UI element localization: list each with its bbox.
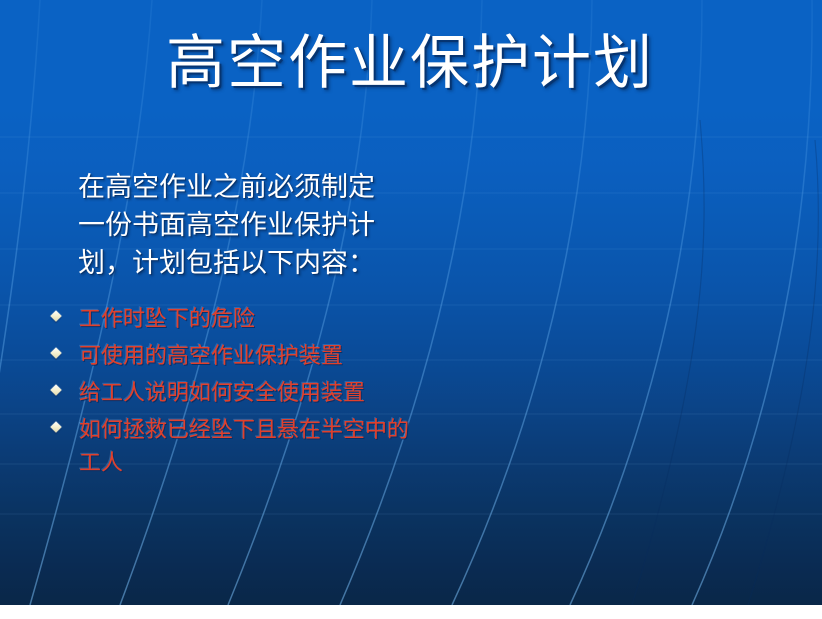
presentation-slide-root: 高空作业保护计划 在高空作业之前必须制定一份书面高空作业保护计划，计划包括以下内… xyxy=(0,0,822,619)
slide-canvas: 高空作业保护计划 在高空作业之前必须制定一份书面高空作业保护计划，计划包括以下内… xyxy=(0,0,822,605)
list-item: 给工人说明如何安全使用装置 xyxy=(50,377,410,410)
diamond-bullet-icon xyxy=(50,421,61,432)
intro-paragraph: 在高空作业之前必须制定一份书面高空作业保护计划，计划包括以下内容： xyxy=(78,169,398,283)
diamond-bullet-icon xyxy=(50,384,61,395)
page-title: 高空作业保护计划 xyxy=(166,26,654,100)
list-item-label: 如何拯救已经坠下且悬在半空中的工人 xyxy=(79,414,410,480)
meridian-shadow-lines xyxy=(632,120,818,605)
list-item: 可使用的高空作业保护装置 xyxy=(50,340,410,373)
diamond-bullet-icon xyxy=(50,347,61,358)
list-item-label: 给工人说明如何安全使用装置 xyxy=(79,377,410,410)
list-item: 工作时坠下的危险 xyxy=(50,303,410,336)
bullet-list: 工作时坠下的危险 可使用的高空作业保护装置 给工人说明如何安全使用装置 如何拯救… xyxy=(50,303,410,484)
title-placeholder: 高空作业保护计划 xyxy=(60,26,760,100)
intro-paragraph-placeholder: 在高空作业之前必须制定一份书面高空作业保护计划，计划包括以下内容： xyxy=(78,142,398,310)
diamond-bullet-icon xyxy=(50,310,61,321)
list-item: 如何拯救已经坠下且悬在半空中的工人 xyxy=(50,414,410,480)
list-item-label: 可使用的高空作业保护装置 xyxy=(79,340,410,373)
slide-bottom-strip xyxy=(0,605,822,619)
list-item-label: 工作时坠下的危险 xyxy=(79,303,410,336)
